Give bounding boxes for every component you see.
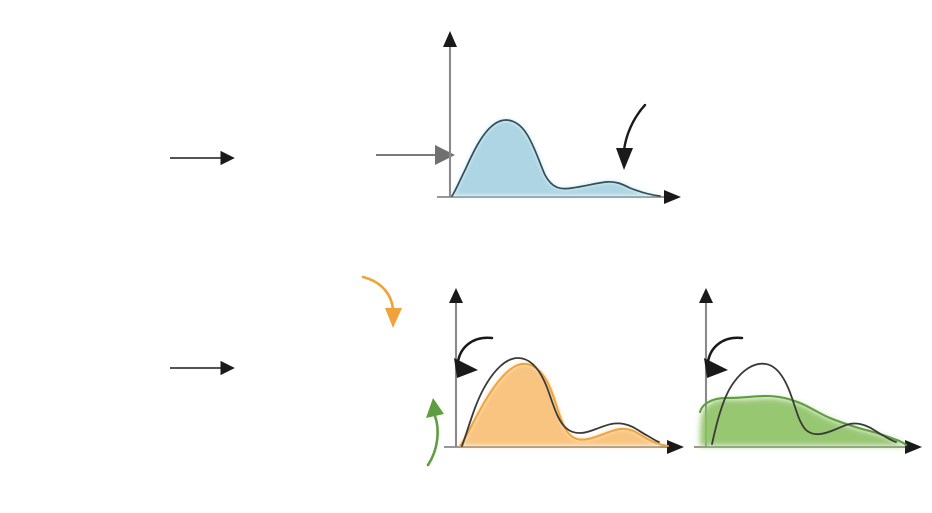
- diagram-canvas: [0, 0, 932, 513]
- high-noise-measured-area: [700, 396, 906, 446]
- vector-layer: [0, 0, 932, 513]
- low-noise-pointer-arrow: [454, 338, 492, 378]
- estimated-true-pointer-arrow: [616, 105, 645, 170]
- low-noise-curved-arrow: [363, 277, 402, 328]
- high-noise-curved-arrow: [426, 398, 444, 465]
- high-noise-pointer-arrow: [704, 338, 742, 378]
